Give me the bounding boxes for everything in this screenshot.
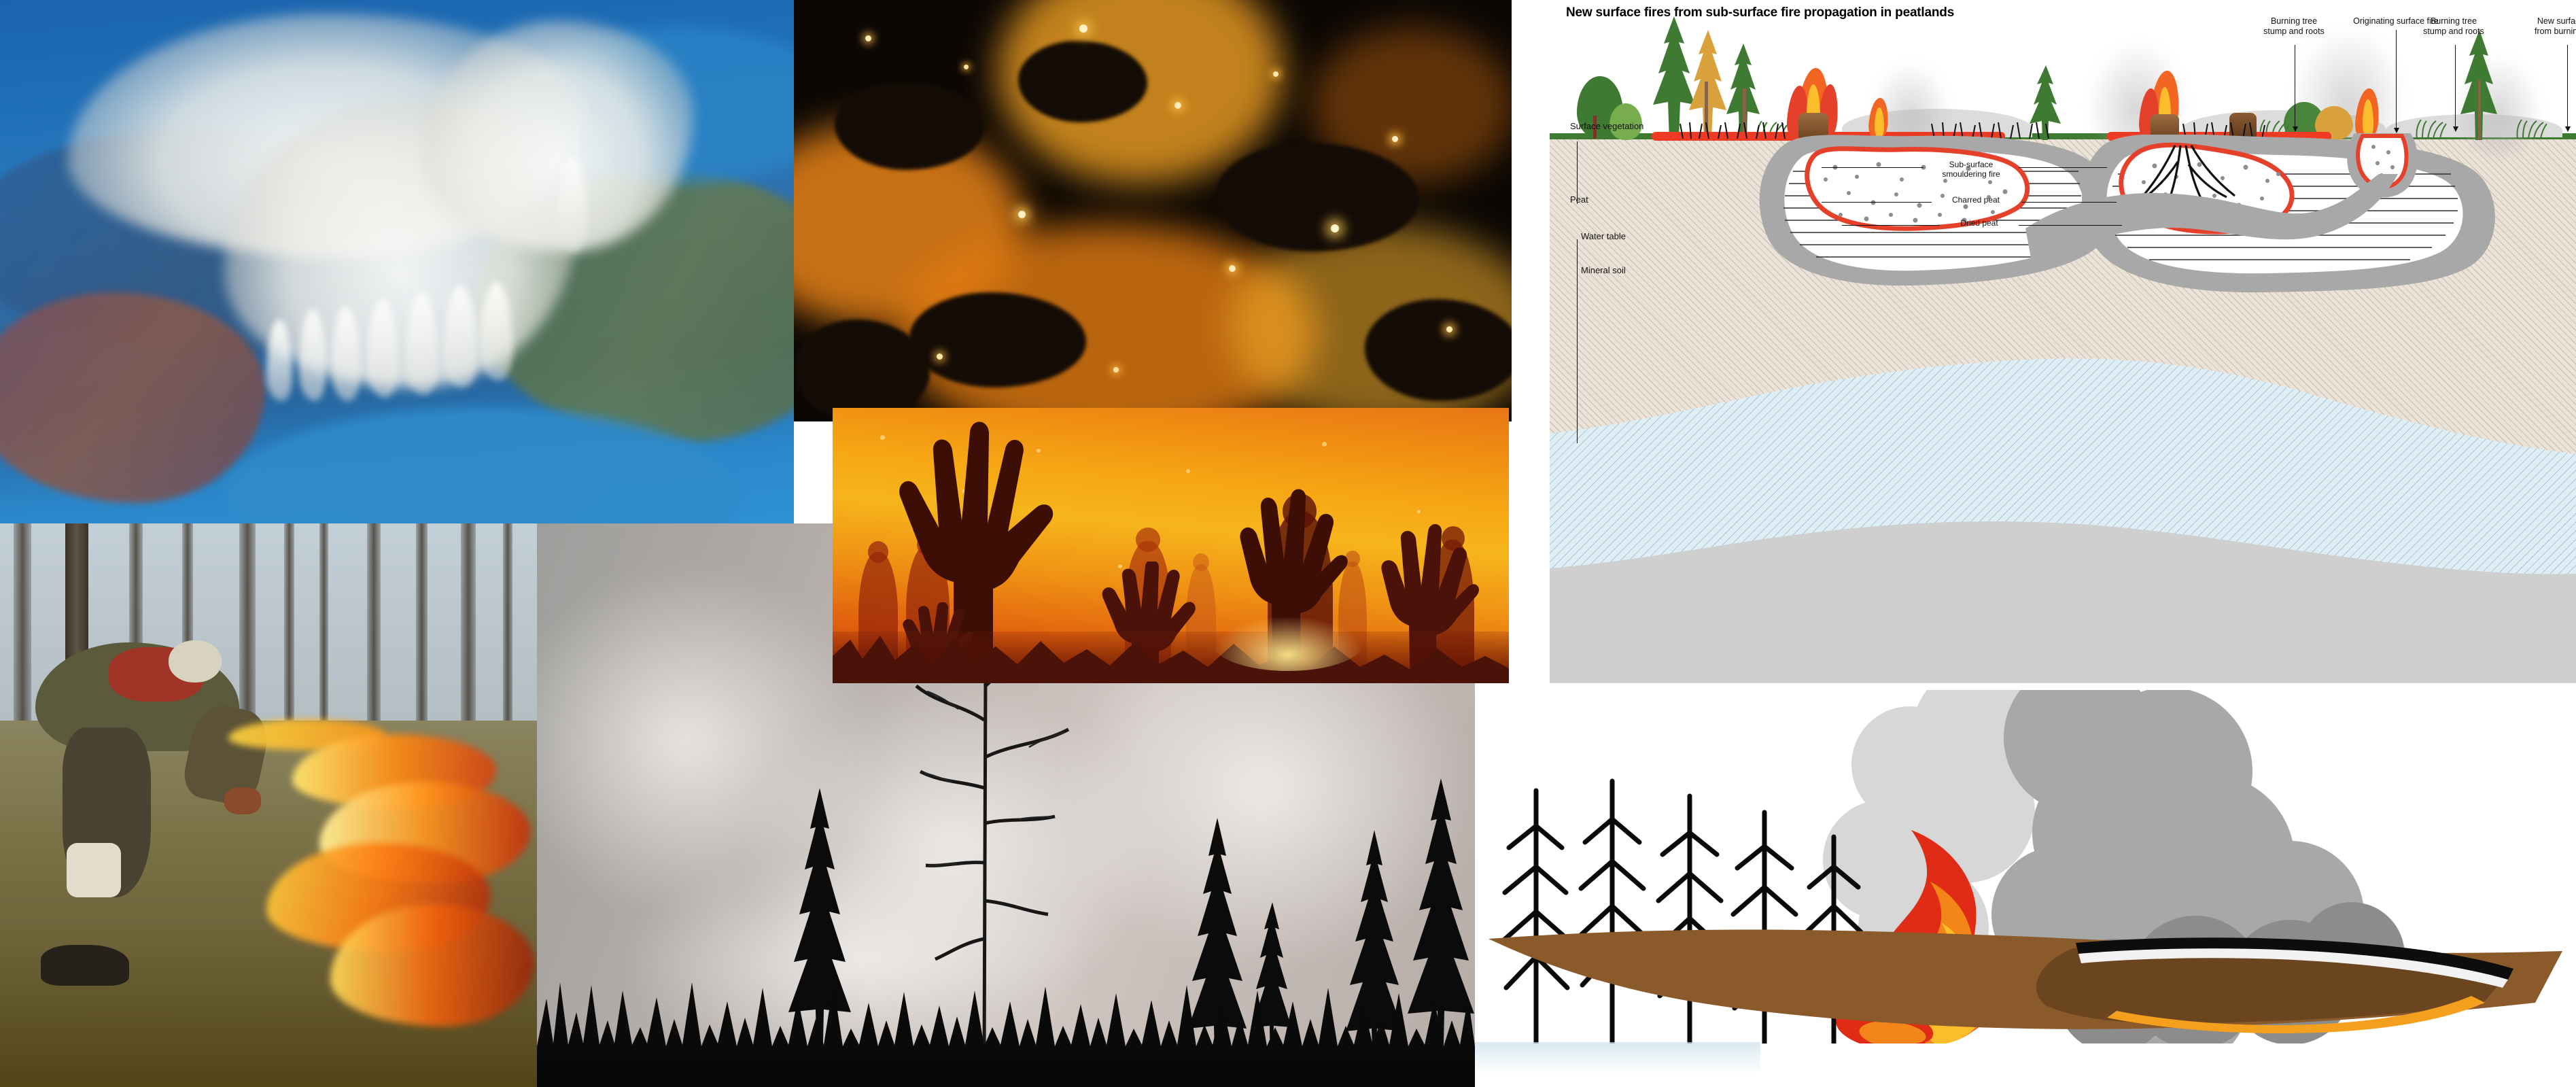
water-depth-measure <box>1577 239 1578 443</box>
arrowhead <box>2293 126 2298 132</box>
ember-spark <box>1417 510 1421 513</box>
ember-spark <box>964 65 969 69</box>
leader-rule <box>1842 225 1940 226</box>
peatland-fire-diagram: New surface fires from sub-surface fire … <box>1550 0 2576 723</box>
leader-rule <box>2019 225 2122 226</box>
arrowhead <box>2453 126 2458 132</box>
label-peat: Peat <box>1570 194 1588 205</box>
label-sub-surface-smouldering-fire: Sub-surface smouldering fire <box>1930 160 2012 179</box>
charred-mass-1 <box>835 82 984 170</box>
peat-fire-cartoon <box>1475 683 2576 1087</box>
diagram-title: New surface fires from sub-surface fire … <box>1566 5 1954 20</box>
collage-canvas: New surface fires from sub-surface fire … <box>0 0 2576 1087</box>
leader-line <box>2396 30 2397 132</box>
label-dried-peat: Dried peat <box>1947 219 2012 228</box>
label-surface-vegetation: Surface vegetation <box>1570 121 1643 131</box>
arrowhead <box>2565 126 2571 132</box>
leader-line <box>2295 45 2295 131</box>
leader-line <box>2567 45 2568 131</box>
ember-spark <box>1174 102 1181 109</box>
grass-tuft <box>2513 120 2547 139</box>
arrowhead <box>2394 128 2399 133</box>
ember-spark <box>1273 71 1278 77</box>
firefighter-helmet <box>169 640 222 683</box>
firefighter-boot <box>41 945 129 986</box>
ember-spark <box>1186 469 1190 473</box>
ground-fire-glow <box>1213 617 1363 671</box>
ember-spark <box>865 35 871 41</box>
drip-torch <box>224 787 261 814</box>
ember-spark <box>1446 326 1452 332</box>
ember-spark <box>1018 211 1026 218</box>
leader-rule <box>2021 202 2117 203</box>
firefighter-knee-pad <box>67 843 121 897</box>
leader-rule <box>2019 167 2107 168</box>
ember-spark <box>1322 442 1327 447</box>
callout-burning-tree-stump-left: Burning tree stump and roots <box>2243 16 2345 37</box>
ember-spark <box>1331 224 1339 232</box>
label-water-table: Water table <box>1581 231 1626 241</box>
aerial-peninsula <box>0 292 265 503</box>
ember-spark <box>937 353 943 360</box>
charred-peat-channel <box>2025 170 2406 299</box>
firefighter-drip-torch-photo <box>0 523 537 1087</box>
leader-rule <box>1822 167 1924 168</box>
peat-depth-measure <box>1577 141 1578 204</box>
mineral-soil-layer <box>1550 503 2576 683</box>
label-mineral-soil: Mineral soil <box>1581 265 1626 275</box>
aerial-wildfire-photo <box>0 0 794 523</box>
callout-burning-tree-stump-right: Burning tree stump and roots <box>2403 16 2505 37</box>
burning-brush <box>833 608 1509 683</box>
water-hint <box>1475 1042 1760 1073</box>
hands-in-fire-illustration <box>833 408 1509 683</box>
tree-trunk <box>2478 80 2481 140</box>
label-charred-peat: Charred peat <box>1938 196 2013 205</box>
ember-spark <box>1392 136 1398 142</box>
leader-rule <box>1822 202 1932 203</box>
ember-spark <box>1113 367 1119 373</box>
figure-head <box>1136 528 1160 552</box>
ember-field-photo <box>794 0 1512 421</box>
charred-mass-5 <box>1365 299 1512 401</box>
leader-line <box>2455 45 2456 131</box>
callout-new-surface-fire: New surface fire from burning peat <box>2513 16 2576 37</box>
ember-spark <box>1079 24 1087 33</box>
charred-ground <box>537 1061 1475 1087</box>
ember-spark <box>1229 265 1236 272</box>
